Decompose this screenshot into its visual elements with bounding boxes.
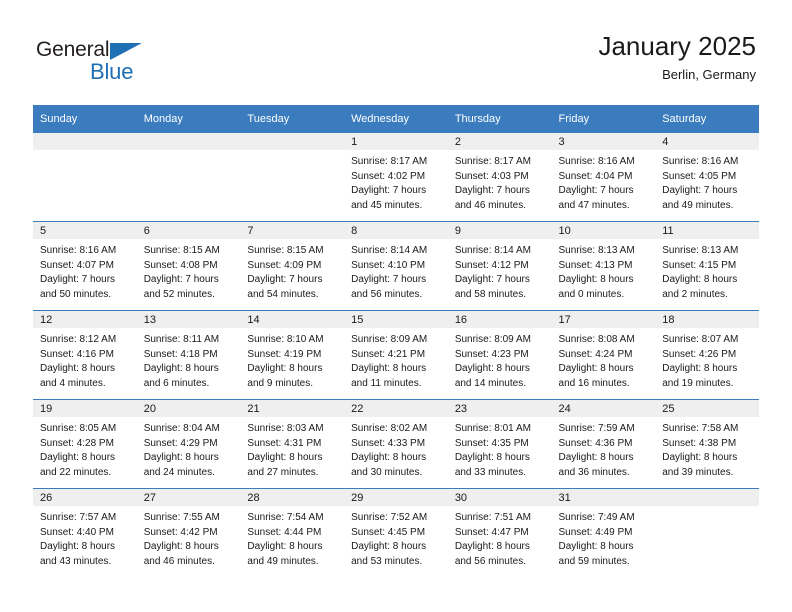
day-detail-line: Sunset: 4:36 PM: [559, 437, 650, 452]
day-cell-inner: 15Sunrise: 8:09 AMSunset: 4:21 PMDayligh…: [344, 311, 448, 399]
weekday-header-monday: Monday: [137, 105, 241, 133]
day-details: Sunrise: 8:16 AMSunset: 4:05 PMDaylight:…: [655, 150, 759, 213]
day-cell-inner: 20Sunrise: 8:04 AMSunset: 4:29 PMDayligh…: [137, 400, 241, 488]
day-detail-line: Sunrise: 8:16 AM: [559, 155, 650, 170]
day-cell-inner: 21Sunrise: 8:03 AMSunset: 4:31 PMDayligh…: [240, 400, 344, 488]
calendar-cell-empty: [655, 489, 759, 578]
day-details: [137, 150, 241, 155]
day-detail-line: Sunset: 4:49 PM: [559, 526, 650, 541]
day-details: Sunrise: 7:54 AMSunset: 4:44 PMDaylight:…: [240, 506, 344, 569]
day-detail-line: and 59 minutes.: [559, 555, 650, 570]
day-number: 6: [137, 222, 241, 239]
calendar-day-cell[interactable]: 26Sunrise: 7:57 AMSunset: 4:40 PMDayligh…: [33, 489, 137, 578]
day-number: 21: [240, 400, 344, 417]
day-detail-line: Sunset: 4:08 PM: [144, 259, 235, 274]
calendar-day-cell[interactable]: 29Sunrise: 7:52 AMSunset: 4:45 PMDayligh…: [344, 489, 448, 578]
weekday-header-tuesday: Tuesday: [240, 105, 344, 133]
day-cell-inner: 29Sunrise: 7:52 AMSunset: 4:45 PMDayligh…: [344, 489, 448, 577]
calendar-day-cell[interactable]: 27Sunrise: 7:55 AMSunset: 4:42 PMDayligh…: [137, 489, 241, 578]
day-details: Sunrise: 8:14 AMSunset: 4:12 PMDaylight:…: [448, 239, 552, 302]
day-detail-line: Sunrise: 8:01 AM: [455, 422, 546, 437]
day-detail-line: Sunset: 4:38 PM: [662, 437, 753, 452]
title-block: January 2025 Berlin, Germany: [598, 30, 756, 85]
day-details: Sunrise: 7:55 AMSunset: 4:42 PMDaylight:…: [137, 506, 241, 569]
day-number: [33, 133, 137, 150]
day-details: [655, 506, 759, 511]
day-detail-line: Sunset: 4:47 PM: [455, 526, 546, 541]
day-number: 20: [137, 400, 241, 417]
day-detail-line: and 22 minutes.: [40, 466, 131, 481]
day-cell-inner: 13Sunrise: 8:11 AMSunset: 4:18 PMDayligh…: [137, 311, 241, 399]
day-details: Sunrise: 8:12 AMSunset: 4:16 PMDaylight:…: [33, 328, 137, 391]
day-detail-line: Daylight: 7 hours: [662, 184, 753, 199]
day-detail-line: Sunset: 4:44 PM: [247, 526, 338, 541]
day-detail-line: Sunset: 4:15 PM: [662, 259, 753, 274]
weekday-header-wednesday: Wednesday: [344, 105, 448, 133]
day-number: 30: [448, 489, 552, 506]
logo-triangle-icon: [110, 43, 142, 60]
day-detail-line: and 27 minutes.: [247, 466, 338, 481]
day-number: 23: [448, 400, 552, 417]
day-details: Sunrise: 8:13 AMSunset: 4:15 PMDaylight:…: [655, 239, 759, 302]
day-detail-line: Sunset: 4:40 PM: [40, 526, 131, 541]
day-cell-inner: 2Sunrise: 8:17 AMSunset: 4:03 PMDaylight…: [448, 133, 552, 221]
day-detail-line: and 16 minutes.: [559, 377, 650, 392]
day-number: 2: [448, 133, 552, 150]
day-detail-line: Daylight: 8 hours: [247, 451, 338, 466]
day-cell-inner: [240, 133, 344, 221]
day-detail-line: Daylight: 7 hours: [455, 184, 546, 199]
calendar-day-cell[interactable]: 5Sunrise: 8:16 AMSunset: 4:07 PMDaylight…: [33, 222, 137, 311]
day-details: Sunrise: 8:15 AMSunset: 4:09 PMDaylight:…: [240, 239, 344, 302]
calendar-day-cell[interactable]: 1Sunrise: 8:17 AMSunset: 4:02 PMDaylight…: [344, 133, 448, 222]
day-details: [33, 150, 137, 155]
day-detail-line: and 56 minutes.: [455, 555, 546, 570]
day-detail-line: Sunrise: 8:16 AM: [40, 244, 131, 259]
day-detail-line: Sunset: 4:26 PM: [662, 348, 753, 363]
day-number: 31: [552, 489, 656, 506]
calendar-day-cell[interactable]: 9Sunrise: 8:14 AMSunset: 4:12 PMDaylight…: [448, 222, 552, 311]
day-detail-line: Sunset: 4:21 PM: [351, 348, 442, 363]
day-detail-line: Sunrise: 8:17 AM: [351, 155, 442, 170]
calendar-grid: Sunday Monday Tuesday Wednesday Thursday…: [33, 105, 759, 577]
day-details: Sunrise: 8:13 AMSunset: 4:13 PMDaylight:…: [552, 239, 656, 302]
day-detail-line: and 47 minutes.: [559, 199, 650, 214]
day-cell-inner: 18Sunrise: 8:07 AMSunset: 4:26 PMDayligh…: [655, 311, 759, 399]
day-cell-inner: 26Sunrise: 7:57 AMSunset: 4:40 PMDayligh…: [33, 489, 137, 577]
calendar-header-row: Sunday Monday Tuesday Wednesday Thursday…: [33, 105, 759, 133]
day-detail-line: and 45 minutes.: [351, 199, 442, 214]
calendar-page: General Blue January 2025 Berlin, German…: [0, 0, 792, 612]
day-number: 19: [33, 400, 137, 417]
day-detail-line: Daylight: 7 hours: [247, 273, 338, 288]
day-detail-line: Daylight: 8 hours: [351, 540, 442, 555]
calendar-week-row: 12Sunrise: 8:12 AMSunset: 4:16 PMDayligh…: [33, 311, 759, 400]
day-number: 26: [33, 489, 137, 506]
day-details: Sunrise: 8:09 AMSunset: 4:23 PMDaylight:…: [448, 328, 552, 391]
day-detail-line: Daylight: 8 hours: [144, 451, 235, 466]
day-cell-inner: 17Sunrise: 8:08 AMSunset: 4:24 PMDayligh…: [552, 311, 656, 399]
calendar-day-cell[interactable]: 14Sunrise: 8:10 AMSunset: 4:19 PMDayligh…: [240, 311, 344, 400]
day-detail-line: Sunrise: 8:09 AM: [455, 333, 546, 348]
day-detail-line: Sunset: 4:42 PM: [144, 526, 235, 541]
day-number: 7: [240, 222, 344, 239]
day-number: 11: [655, 222, 759, 239]
day-detail-line: Daylight: 8 hours: [40, 451, 131, 466]
day-details: Sunrise: 8:08 AMSunset: 4:24 PMDaylight:…: [552, 328, 656, 391]
calendar-week-row: 1Sunrise: 8:17 AMSunset: 4:02 PMDaylight…: [33, 133, 759, 222]
day-cell-inner: 16Sunrise: 8:09 AMSunset: 4:23 PMDayligh…: [448, 311, 552, 399]
calendar-day-cell[interactable]: 13Sunrise: 8:11 AMSunset: 4:18 PMDayligh…: [137, 311, 241, 400]
day-number: 9: [448, 222, 552, 239]
day-details: Sunrise: 8:14 AMSunset: 4:10 PMDaylight:…: [344, 239, 448, 302]
day-cell-inner: 19Sunrise: 8:05 AMSunset: 4:28 PMDayligh…: [33, 400, 137, 488]
day-number: 5: [33, 222, 137, 239]
day-detail-line: Sunrise: 8:05 AM: [40, 422, 131, 437]
day-details: Sunrise: 7:57 AMSunset: 4:40 PMDaylight:…: [33, 506, 137, 569]
calendar-day-cell[interactable]: 3Sunrise: 8:16 AMSunset: 4:04 PMDaylight…: [552, 133, 656, 222]
day-cell-inner: 24Sunrise: 7:59 AMSunset: 4:36 PMDayligh…: [552, 400, 656, 488]
weekday-header-sunday: Sunday: [33, 105, 137, 133]
weekday-header-saturday: Saturday: [655, 105, 759, 133]
day-details: Sunrise: 8:16 AMSunset: 4:07 PMDaylight:…: [33, 239, 137, 302]
calendar-day-cell[interactable]: 30Sunrise: 7:51 AMSunset: 4:47 PMDayligh…: [448, 489, 552, 578]
day-cell-inner: [33, 133, 137, 221]
day-detail-line: Daylight: 8 hours: [559, 540, 650, 555]
day-number: 28: [240, 489, 344, 506]
day-detail-line: Sunset: 4:02 PM: [351, 170, 442, 185]
day-detail-line: Sunrise: 7:59 AM: [559, 422, 650, 437]
day-number: 10: [552, 222, 656, 239]
day-detail-line: Daylight: 8 hours: [559, 362, 650, 377]
day-detail-line: and 49 minutes.: [662, 199, 753, 214]
day-detail-line: and 54 minutes.: [247, 288, 338, 303]
day-detail-line: Daylight: 8 hours: [247, 362, 338, 377]
day-detail-line: Daylight: 8 hours: [247, 540, 338, 555]
calendar-day-cell[interactable]: 19Sunrise: 8:05 AMSunset: 4:28 PMDayligh…: [33, 400, 137, 489]
day-cell-inner: 31Sunrise: 7:49 AMSunset: 4:49 PMDayligh…: [552, 489, 656, 577]
day-detail-line: and 9 minutes.: [247, 377, 338, 392]
day-detail-line: Sunrise: 8:02 AM: [351, 422, 442, 437]
day-detail-line: Sunrise: 8:07 AM: [662, 333, 753, 348]
calendar-day-cell[interactable]: 22Sunrise: 8:02 AMSunset: 4:33 PMDayligh…: [344, 400, 448, 489]
day-detail-line: Daylight: 8 hours: [351, 451, 442, 466]
day-detail-line: Sunrise: 8:10 AM: [247, 333, 338, 348]
calendar-day-cell[interactable]: 10Sunrise: 8:13 AMSunset: 4:13 PMDayligh…: [552, 222, 656, 311]
day-details: Sunrise: 8:16 AMSunset: 4:04 PMDaylight:…: [552, 150, 656, 213]
day-details: [240, 150, 344, 155]
day-detail-line: Sunrise: 8:16 AM: [662, 155, 753, 170]
day-number: [240, 133, 344, 150]
calendar-cell-empty: [240, 133, 344, 222]
day-cell-inner: 7Sunrise: 8:15 AMSunset: 4:09 PMDaylight…: [240, 222, 344, 310]
day-cell-inner: 23Sunrise: 8:01 AMSunset: 4:35 PMDayligh…: [448, 400, 552, 488]
day-detail-line: Daylight: 8 hours: [144, 540, 235, 555]
day-detail-line: Daylight: 7 hours: [40, 273, 131, 288]
day-detail-line: and 43 minutes.: [40, 555, 131, 570]
day-details: Sunrise: 8:10 AMSunset: 4:19 PMDaylight:…: [240, 328, 344, 391]
calendar-day-cell[interactable]: 24Sunrise: 7:59 AMSunset: 4:36 PMDayligh…: [552, 400, 656, 489]
calendar-cell-empty: [137, 133, 241, 222]
day-number: [137, 133, 241, 150]
calendar-day-cell[interactable]: 28Sunrise: 7:54 AMSunset: 4:44 PMDayligh…: [240, 489, 344, 578]
day-number: 15: [344, 311, 448, 328]
day-number: 12: [33, 311, 137, 328]
day-cell-inner: 12Sunrise: 8:12 AMSunset: 4:16 PMDayligh…: [33, 311, 137, 399]
day-number: 8: [344, 222, 448, 239]
day-detail-line: Daylight: 7 hours: [351, 184, 442, 199]
day-detail-line: Sunrise: 8:17 AM: [455, 155, 546, 170]
day-detail-line: Sunrise: 8:04 AM: [144, 422, 235, 437]
calendar-day-cell[interactable]: 11Sunrise: 8:13 AMSunset: 4:15 PMDayligh…: [655, 222, 759, 311]
day-detail-line: Daylight: 8 hours: [351, 362, 442, 377]
day-detail-line: Sunset: 4:45 PM: [351, 526, 442, 541]
calendar-day-cell[interactable]: 8Sunrise: 8:14 AMSunset: 4:10 PMDaylight…: [344, 222, 448, 311]
day-detail-line: Sunset: 4:28 PM: [40, 437, 131, 452]
day-detail-line: Sunset: 4:19 PM: [247, 348, 338, 363]
day-cell-inner: 14Sunrise: 8:10 AMSunset: 4:19 PMDayligh…: [240, 311, 344, 399]
calendar-cell-empty: [33, 133, 137, 222]
day-detail-line: Daylight: 8 hours: [662, 273, 753, 288]
day-detail-line: and 19 minutes.: [662, 377, 753, 392]
calendar-day-cell[interactable]: 7Sunrise: 8:15 AMSunset: 4:09 PMDaylight…: [240, 222, 344, 311]
day-details: Sunrise: 7:59 AMSunset: 4:36 PMDaylight:…: [552, 417, 656, 480]
day-detail-line: Sunset: 4:16 PM: [40, 348, 131, 363]
calendar-week-row: 5Sunrise: 8:16 AMSunset: 4:07 PMDaylight…: [33, 222, 759, 311]
day-detail-line: Daylight: 8 hours: [455, 451, 546, 466]
day-detail-line: Sunrise: 7:54 AM: [247, 511, 338, 526]
day-number: 27: [137, 489, 241, 506]
general-blue-logo[interactable]: General Blue: [36, 38, 166, 84]
day-detail-line: Sunset: 4:07 PM: [40, 259, 131, 274]
day-detail-line: and 50 minutes.: [40, 288, 131, 303]
day-number: 3: [552, 133, 656, 150]
day-detail-line: and 39 minutes.: [662, 466, 753, 481]
day-cell-inner: 22Sunrise: 8:02 AMSunset: 4:33 PMDayligh…: [344, 400, 448, 488]
day-detail-line: Sunrise: 8:14 AM: [455, 244, 546, 259]
day-detail-line: Sunset: 4:12 PM: [455, 259, 546, 274]
day-detail-line: Daylight: 8 hours: [455, 540, 546, 555]
day-detail-line: Sunset: 4:13 PM: [559, 259, 650, 274]
calendar-week-row: 19Sunrise: 8:05 AMSunset: 4:28 PMDayligh…: [33, 400, 759, 489]
day-detail-line: Daylight: 7 hours: [351, 273, 442, 288]
day-number: [655, 489, 759, 506]
day-detail-line: and 11 minutes.: [351, 377, 442, 392]
day-detail-line: Sunrise: 8:15 AM: [247, 244, 338, 259]
day-detail-line: Sunrise: 7:49 AM: [559, 511, 650, 526]
day-detail-line: Sunrise: 8:13 AM: [559, 244, 650, 259]
day-detail-line: and 0 minutes.: [559, 288, 650, 303]
day-detail-line: Sunrise: 7:55 AM: [144, 511, 235, 526]
day-detail-line: and 4 minutes.: [40, 377, 131, 392]
day-cell-inner: 9Sunrise: 8:14 AMSunset: 4:12 PMDaylight…: [448, 222, 552, 310]
day-detail-line: Sunset: 4:03 PM: [455, 170, 546, 185]
day-number: 17: [552, 311, 656, 328]
day-cell-inner: 10Sunrise: 8:13 AMSunset: 4:13 PMDayligh…: [552, 222, 656, 310]
day-details: Sunrise: 7:58 AMSunset: 4:38 PMDaylight:…: [655, 417, 759, 480]
calendar-day-cell[interactable]: 31Sunrise: 7:49 AMSunset: 4:49 PMDayligh…: [552, 489, 656, 578]
day-cell-inner: 5Sunrise: 8:16 AMSunset: 4:07 PMDaylight…: [33, 222, 137, 310]
day-number: 29: [344, 489, 448, 506]
day-detail-line: Sunrise: 8:11 AM: [144, 333, 235, 348]
day-detail-line: Sunrise: 8:15 AM: [144, 244, 235, 259]
day-detail-line: and 46 minutes.: [455, 199, 546, 214]
calendar-day-cell[interactable]: 17Sunrise: 8:08 AMSunset: 4:24 PMDayligh…: [552, 311, 656, 400]
day-detail-line: Daylight: 8 hours: [559, 273, 650, 288]
day-details: Sunrise: 8:03 AMSunset: 4:31 PMDaylight:…: [240, 417, 344, 480]
page-header: General Blue January 2025 Berlin, German…: [0, 0, 792, 100]
day-details: Sunrise: 8:17 AMSunset: 4:02 PMDaylight:…: [344, 150, 448, 213]
calendar-body: 1Sunrise: 8:17 AMSunset: 4:02 PMDaylight…: [33, 133, 759, 577]
day-detail-line: and 49 minutes.: [247, 555, 338, 570]
day-detail-line: Sunrise: 8:13 AM: [662, 244, 753, 259]
calendar-day-cell[interactable]: 18Sunrise: 8:07 AMSunset: 4:26 PMDayligh…: [655, 311, 759, 400]
day-details: Sunrise: 8:05 AMSunset: 4:28 PMDaylight:…: [33, 417, 137, 480]
day-details: Sunrise: 8:07 AMSunset: 4:26 PMDaylight:…: [655, 328, 759, 391]
calendar-day-cell[interactable]: 4Sunrise: 8:16 AMSunset: 4:05 PMDaylight…: [655, 133, 759, 222]
day-detail-line: Sunset: 4:29 PM: [144, 437, 235, 452]
day-number: 13: [137, 311, 241, 328]
day-detail-line: Sunset: 4:23 PM: [455, 348, 546, 363]
day-number: 1: [344, 133, 448, 150]
day-detail-line: Daylight: 8 hours: [40, 362, 131, 377]
day-detail-line: Sunrise: 8:12 AM: [40, 333, 131, 348]
day-details: Sunrise: 8:15 AMSunset: 4:08 PMDaylight:…: [137, 239, 241, 302]
day-detail-line: Daylight: 8 hours: [559, 451, 650, 466]
calendar-day-cell[interactable]: 20Sunrise: 8:04 AMSunset: 4:29 PMDayligh…: [137, 400, 241, 489]
day-detail-line: Sunset: 4:04 PM: [559, 170, 650, 185]
day-detail-line: Daylight: 8 hours: [144, 362, 235, 377]
day-detail-line: Sunset: 4:35 PM: [455, 437, 546, 452]
day-details: Sunrise: 7:49 AMSunset: 4:49 PMDaylight:…: [552, 506, 656, 569]
day-detail-line: Sunrise: 7:52 AM: [351, 511, 442, 526]
day-detail-line: Daylight: 8 hours: [40, 540, 131, 555]
day-detail-line: Sunset: 4:18 PM: [144, 348, 235, 363]
day-detail-line: and 46 minutes.: [144, 555, 235, 570]
day-detail-line: Sunset: 4:33 PM: [351, 437, 442, 452]
day-detail-line: Sunrise: 8:08 AM: [559, 333, 650, 348]
logo-text-blue: Blue: [90, 59, 133, 85]
day-details: Sunrise: 8:09 AMSunset: 4:21 PMDaylight:…: [344, 328, 448, 391]
weekday-header-friday: Friday: [552, 105, 656, 133]
day-cell-inner: 8Sunrise: 8:14 AMSunset: 4:10 PMDaylight…: [344, 222, 448, 310]
day-detail-line: Sunrise: 7:51 AM: [455, 511, 546, 526]
calendar-day-cell[interactable]: 16Sunrise: 8:09 AMSunset: 4:23 PMDayligh…: [448, 311, 552, 400]
day-cell-inner: 11Sunrise: 8:13 AMSunset: 4:15 PMDayligh…: [655, 222, 759, 310]
day-cell-inner: 1Sunrise: 8:17 AMSunset: 4:02 PMDaylight…: [344, 133, 448, 221]
day-detail-line: Sunset: 4:09 PM: [247, 259, 338, 274]
day-number: 22: [344, 400, 448, 417]
day-cell-inner: 30Sunrise: 7:51 AMSunset: 4:47 PMDayligh…: [448, 489, 552, 577]
day-detail-line: Daylight: 8 hours: [455, 362, 546, 377]
day-detail-line: Daylight: 8 hours: [662, 362, 753, 377]
calendar-day-cell[interactable]: 23Sunrise: 8:01 AMSunset: 4:35 PMDayligh…: [448, 400, 552, 489]
day-number: 25: [655, 400, 759, 417]
day-detail-line: and 56 minutes.: [351, 288, 442, 303]
day-cell-inner: 25Sunrise: 7:58 AMSunset: 4:38 PMDayligh…: [655, 400, 759, 488]
day-details: Sunrise: 8:04 AMSunset: 4:29 PMDaylight:…: [137, 417, 241, 480]
day-detail-line: Sunrise: 8:09 AM: [351, 333, 442, 348]
day-details: Sunrise: 8:02 AMSunset: 4:33 PMDaylight:…: [344, 417, 448, 480]
day-cell-inner: [655, 489, 759, 577]
day-details: Sunrise: 8:17 AMSunset: 4:03 PMDaylight:…: [448, 150, 552, 213]
day-detail-line: Sunset: 4:05 PM: [662, 170, 753, 185]
day-detail-line: and 58 minutes.: [455, 288, 546, 303]
day-details: Sunrise: 7:52 AMSunset: 4:45 PMDaylight:…: [344, 506, 448, 569]
day-cell-inner: 4Sunrise: 8:16 AMSunset: 4:05 PMDaylight…: [655, 133, 759, 221]
day-number: 14: [240, 311, 344, 328]
day-detail-line: and 33 minutes.: [455, 466, 546, 481]
day-detail-line: Sunrise: 7:57 AM: [40, 511, 131, 526]
calendar-week-row: 26Sunrise: 7:57 AMSunset: 4:40 PMDayligh…: [33, 489, 759, 578]
day-detail-line: Sunrise: 8:14 AM: [351, 244, 442, 259]
calendar-day-cell[interactable]: 12Sunrise: 8:12 AMSunset: 4:16 PMDayligh…: [33, 311, 137, 400]
day-detail-line: Daylight: 7 hours: [455, 273, 546, 288]
day-detail-line: and 24 minutes.: [144, 466, 235, 481]
day-detail-line: and 52 minutes.: [144, 288, 235, 303]
day-cell-inner: 6Sunrise: 8:15 AMSunset: 4:08 PMDaylight…: [137, 222, 241, 310]
day-number: 4: [655, 133, 759, 150]
day-detail-line: and 53 minutes.: [351, 555, 442, 570]
day-details: Sunrise: 8:11 AMSunset: 4:18 PMDaylight:…: [137, 328, 241, 391]
day-detail-line: Sunset: 4:31 PM: [247, 437, 338, 452]
day-detail-line: and 2 minutes.: [662, 288, 753, 303]
page-title: January 2025: [598, 30, 756, 62]
day-detail-line: and 30 minutes.: [351, 466, 442, 481]
calendar-day-cell[interactable]: 21Sunrise: 8:03 AMSunset: 4:31 PMDayligh…: [240, 400, 344, 489]
day-details: Sunrise: 7:51 AMSunset: 4:47 PMDaylight:…: [448, 506, 552, 569]
day-detail-line: and 6 minutes.: [144, 377, 235, 392]
day-detail-line: Sunset: 4:24 PM: [559, 348, 650, 363]
day-detail-line: and 14 minutes.: [455, 377, 546, 392]
day-cell-inner: [137, 133, 241, 221]
day-cell-inner: 28Sunrise: 7:54 AMSunset: 4:44 PMDayligh…: [240, 489, 344, 577]
day-cell-inner: 27Sunrise: 7:55 AMSunset: 4:42 PMDayligh…: [137, 489, 241, 577]
day-detail-line: Sunset: 4:10 PM: [351, 259, 442, 274]
day-number: 16: [448, 311, 552, 328]
calendar-day-cell[interactable]: 25Sunrise: 7:58 AMSunset: 4:38 PMDayligh…: [655, 400, 759, 489]
day-detail-line: Daylight: 8 hours: [662, 451, 753, 466]
day-detail-line: Daylight: 7 hours: [144, 273, 235, 288]
day-number: 18: [655, 311, 759, 328]
weekday-header-thursday: Thursday: [448, 105, 552, 133]
day-detail-line: Sunrise: 8:03 AM: [247, 422, 338, 437]
day-detail-line: and 36 minutes.: [559, 466, 650, 481]
calendar-day-cell[interactable]: 15Sunrise: 8:09 AMSunset: 4:21 PMDayligh…: [344, 311, 448, 400]
day-number: 24: [552, 400, 656, 417]
day-detail-line: Sunrise: 7:58 AM: [662, 422, 753, 437]
day-details: Sunrise: 8:01 AMSunset: 4:35 PMDaylight:…: [448, 417, 552, 480]
page-subtitle: Berlin, Germany: [598, 65, 756, 85]
calendar-day-cell[interactable]: 2Sunrise: 8:17 AMSunset: 4:03 PMDaylight…: [448, 133, 552, 222]
day-detail-line: Daylight: 7 hours: [559, 184, 650, 199]
calendar-day-cell[interactable]: 6Sunrise: 8:15 AMSunset: 4:08 PMDaylight…: [137, 222, 241, 311]
day-cell-inner: 3Sunrise: 8:16 AMSunset: 4:04 PMDaylight…: [552, 133, 656, 221]
